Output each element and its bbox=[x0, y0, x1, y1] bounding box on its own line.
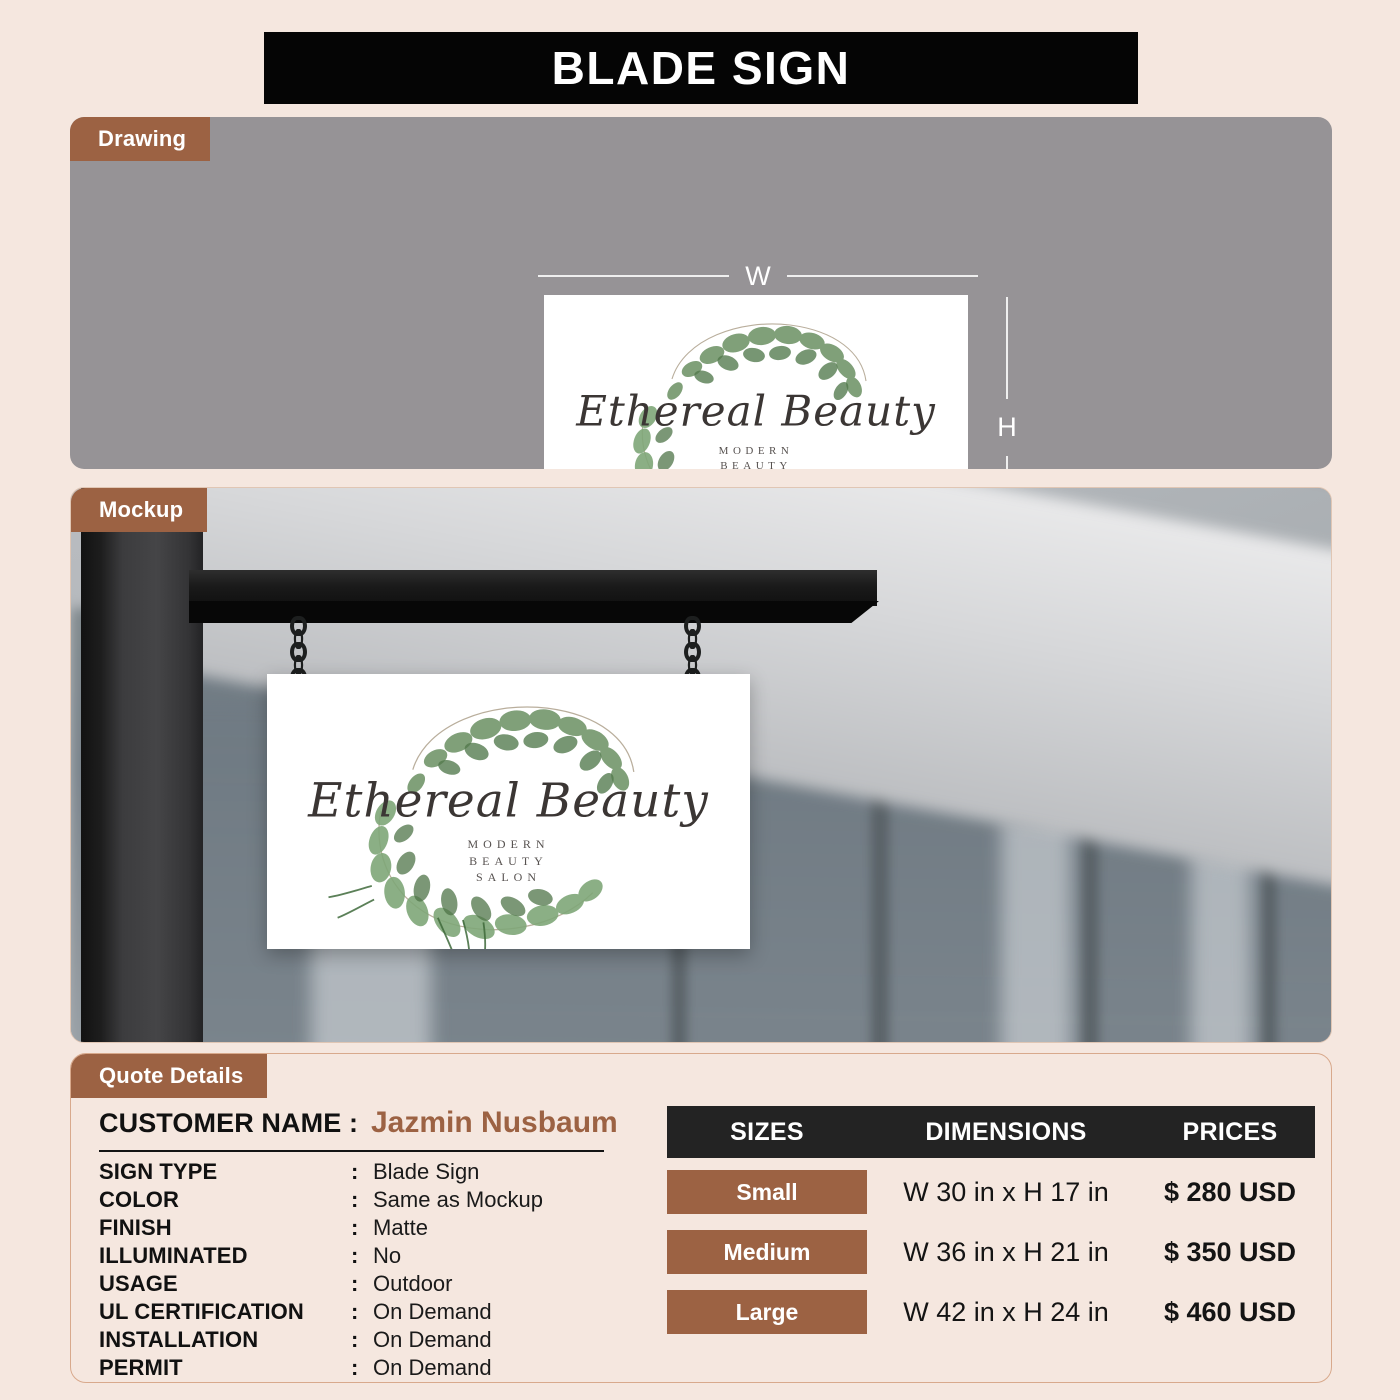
spec-value: On Demand bbox=[373, 1299, 492, 1325]
mockup-tab-label: Mockup bbox=[71, 488, 207, 532]
price-value: $ 280 USD bbox=[1145, 1177, 1315, 1208]
price-value: $ 350 USD bbox=[1145, 1237, 1315, 1268]
spec-label: COLOR bbox=[99, 1187, 351, 1213]
spec-colon: : bbox=[351, 1187, 373, 1213]
spec-label: ILLUMINATED bbox=[99, 1243, 351, 1269]
spec-colon: : bbox=[351, 1327, 373, 1353]
price-value: $ 460 USD bbox=[1145, 1297, 1315, 1328]
width-dimension-label: W bbox=[745, 261, 770, 292]
dimensions-value: W 42 in x H 24 in bbox=[867, 1297, 1145, 1328]
pricing-table: SIZES DIMENSIONS PRICES Small W 30 in x … bbox=[667, 1106, 1315, 1338]
quote-sheet: BLADE SIGN W H bbox=[0, 0, 1400, 1400]
width-dimension-line-left bbox=[538, 275, 729, 277]
dimensions-value: W 36 in x H 21 in bbox=[867, 1237, 1145, 1268]
mockup-window-highlight-1 bbox=[1001, 818, 1071, 1043]
mockup-bracket-arm bbox=[189, 570, 877, 606]
spec-row-finish: FINISH : Matte bbox=[99, 1215, 659, 1243]
height-dimension-label: H bbox=[997, 412, 1017, 443]
logo-artwork-drawing: Ethereal Beauty MODERN BEAUTY SALON bbox=[544, 295, 968, 469]
table-row: Large W 42 in x H 24 in $ 460 USD bbox=[667, 1286, 1315, 1338]
drawing-tab-text: Drawing bbox=[98, 126, 186, 152]
spec-value: No bbox=[373, 1243, 401, 1269]
customer-name-underline bbox=[99, 1150, 604, 1152]
quote-details-tab-text: Quote Details bbox=[99, 1063, 243, 1089]
dimensions-value: W 30 in x H 17 in bbox=[867, 1177, 1145, 1208]
page-title-bar: BLADE SIGN bbox=[264, 32, 1138, 104]
quote-details-tab-label: Quote Details bbox=[71, 1054, 267, 1098]
spec-value: Same as Mockup bbox=[373, 1187, 543, 1213]
pricing-table-header: SIZES DIMENSIONS PRICES bbox=[667, 1106, 1315, 1158]
logo-brand-name: Ethereal Beauty bbox=[308, 773, 709, 828]
spec-label: SIGN TYPE bbox=[99, 1159, 351, 1185]
size-badge-small: Small bbox=[667, 1170, 867, 1214]
spec-row-sign-type: SIGN TYPE : Blade Sign bbox=[99, 1159, 659, 1187]
table-row: Medium W 36 in x H 21 in $ 350 USD bbox=[667, 1226, 1315, 1278]
spec-colon: : bbox=[351, 1299, 373, 1325]
chain-link bbox=[294, 629, 303, 649]
page-title: BLADE SIGN bbox=[552, 41, 851, 95]
customer-name-colon: : bbox=[349, 1108, 371, 1139]
drawing-tab-label: Drawing bbox=[70, 117, 210, 161]
customer-name-value: Jazmin Nusbaum bbox=[371, 1106, 618, 1140]
chain-link bbox=[688, 655, 697, 675]
column-header-prices: PRICES bbox=[1145, 1118, 1315, 1147]
spec-list: CUSTOMER NAME : Jazmin Nusbaum SIGN TYPE… bbox=[99, 1106, 659, 1383]
spec-value: Matte bbox=[373, 1215, 428, 1241]
spec-colon: : bbox=[351, 1355, 373, 1381]
drawing-sign-face: Ethereal Beauty MODERN BEAUTY SALON bbox=[544, 295, 968, 469]
spec-value: Blade Sign bbox=[373, 1159, 479, 1185]
spec-colon: : bbox=[351, 1159, 373, 1185]
spec-row-color: COLOR : Same as Mockup bbox=[99, 1187, 659, 1215]
width-dimension: W bbox=[538, 259, 978, 293]
table-row: Small W 30 in x H 17 in $ 280 USD bbox=[667, 1166, 1315, 1218]
logo-brand-name: Ethereal Beauty bbox=[576, 386, 936, 435]
spec-row-installation: INSTALLATION : On Demand bbox=[99, 1327, 659, 1355]
size-badge-medium: Medium bbox=[667, 1230, 867, 1274]
spec-label: USAGE bbox=[99, 1271, 351, 1297]
mockup-panel: Ethereal Beauty MODERN BEAUTY SALON Mock… bbox=[70, 487, 1332, 1043]
chain-link bbox=[294, 655, 303, 675]
logo-tagline: MODERN BEAUTY SALON bbox=[467, 836, 549, 886]
height-dimension-line-bottom bbox=[1006, 456, 1008, 470]
logo-tagline-line-1: MODERN bbox=[719, 444, 794, 459]
chain-link bbox=[688, 629, 697, 649]
mockup-sign-face: Ethereal Beauty MODERN BEAUTY SALON bbox=[267, 674, 750, 949]
logo-tagline-line-3: SALON bbox=[467, 869, 549, 886]
height-dimension: H bbox=[987, 297, 1027, 469]
logo-tagline: MODERN BEAUTY SALON bbox=[719, 444, 794, 469]
quote-details-panel: CUSTOMER NAME : Jazmin Nusbaum SIGN TYPE… bbox=[70, 1053, 1332, 1383]
spec-row-illuminated: ILLUMINATED : No bbox=[99, 1243, 659, 1271]
spec-label: FINISH bbox=[99, 1215, 351, 1241]
spec-row-ul-certification: UL CERTIFICATION : On Demand bbox=[99, 1299, 659, 1327]
spec-colon: : bbox=[351, 1243, 373, 1269]
spec-colon: : bbox=[351, 1215, 373, 1241]
spec-value: On Demand bbox=[373, 1327, 492, 1353]
mockup-window-highlight-2 bbox=[1191, 848, 1251, 1043]
column-header-dimensions: DIMENSIONS bbox=[867, 1118, 1145, 1147]
logo-tagline-line-1: MODERN bbox=[467, 836, 549, 853]
mockup-tab-text: Mockup bbox=[99, 497, 183, 523]
customer-name-row: CUSTOMER NAME : Jazmin Nusbaum bbox=[99, 1106, 659, 1148]
drawing-panel: W H bbox=[70, 117, 1332, 469]
height-dimension-line-top bbox=[1006, 297, 1008, 399]
logo-tagline-line-2: BEAUTY bbox=[467, 853, 549, 870]
logo-tagline-line-2: BEAUTY bbox=[719, 459, 794, 469]
size-badge-large: Large bbox=[667, 1290, 867, 1334]
spec-value: Outdoor bbox=[373, 1271, 453, 1297]
spec-label: UL CERTIFICATION bbox=[99, 1299, 351, 1325]
spec-label: PERMIT bbox=[99, 1355, 351, 1381]
customer-name-label: CUSTOMER NAME bbox=[99, 1108, 349, 1139]
spec-label: INSTALLATION bbox=[99, 1327, 351, 1353]
spec-row-usage: USAGE : Outdoor bbox=[99, 1271, 659, 1299]
spec-colon: : bbox=[351, 1271, 373, 1297]
spec-row-permit: PERMIT : On Demand bbox=[99, 1355, 659, 1383]
mockup-building-column bbox=[81, 488, 203, 1043]
width-dimension-line-right bbox=[787, 275, 978, 277]
spec-value: On Demand bbox=[373, 1355, 492, 1381]
logo-artwork-mockup: Ethereal Beauty MODERN BEAUTY SALON bbox=[267, 674, 750, 949]
column-header-sizes: SIZES bbox=[667, 1118, 867, 1147]
quote-details-body: CUSTOMER NAME : Jazmin Nusbaum SIGN TYPE… bbox=[71, 1054, 1331, 1382]
